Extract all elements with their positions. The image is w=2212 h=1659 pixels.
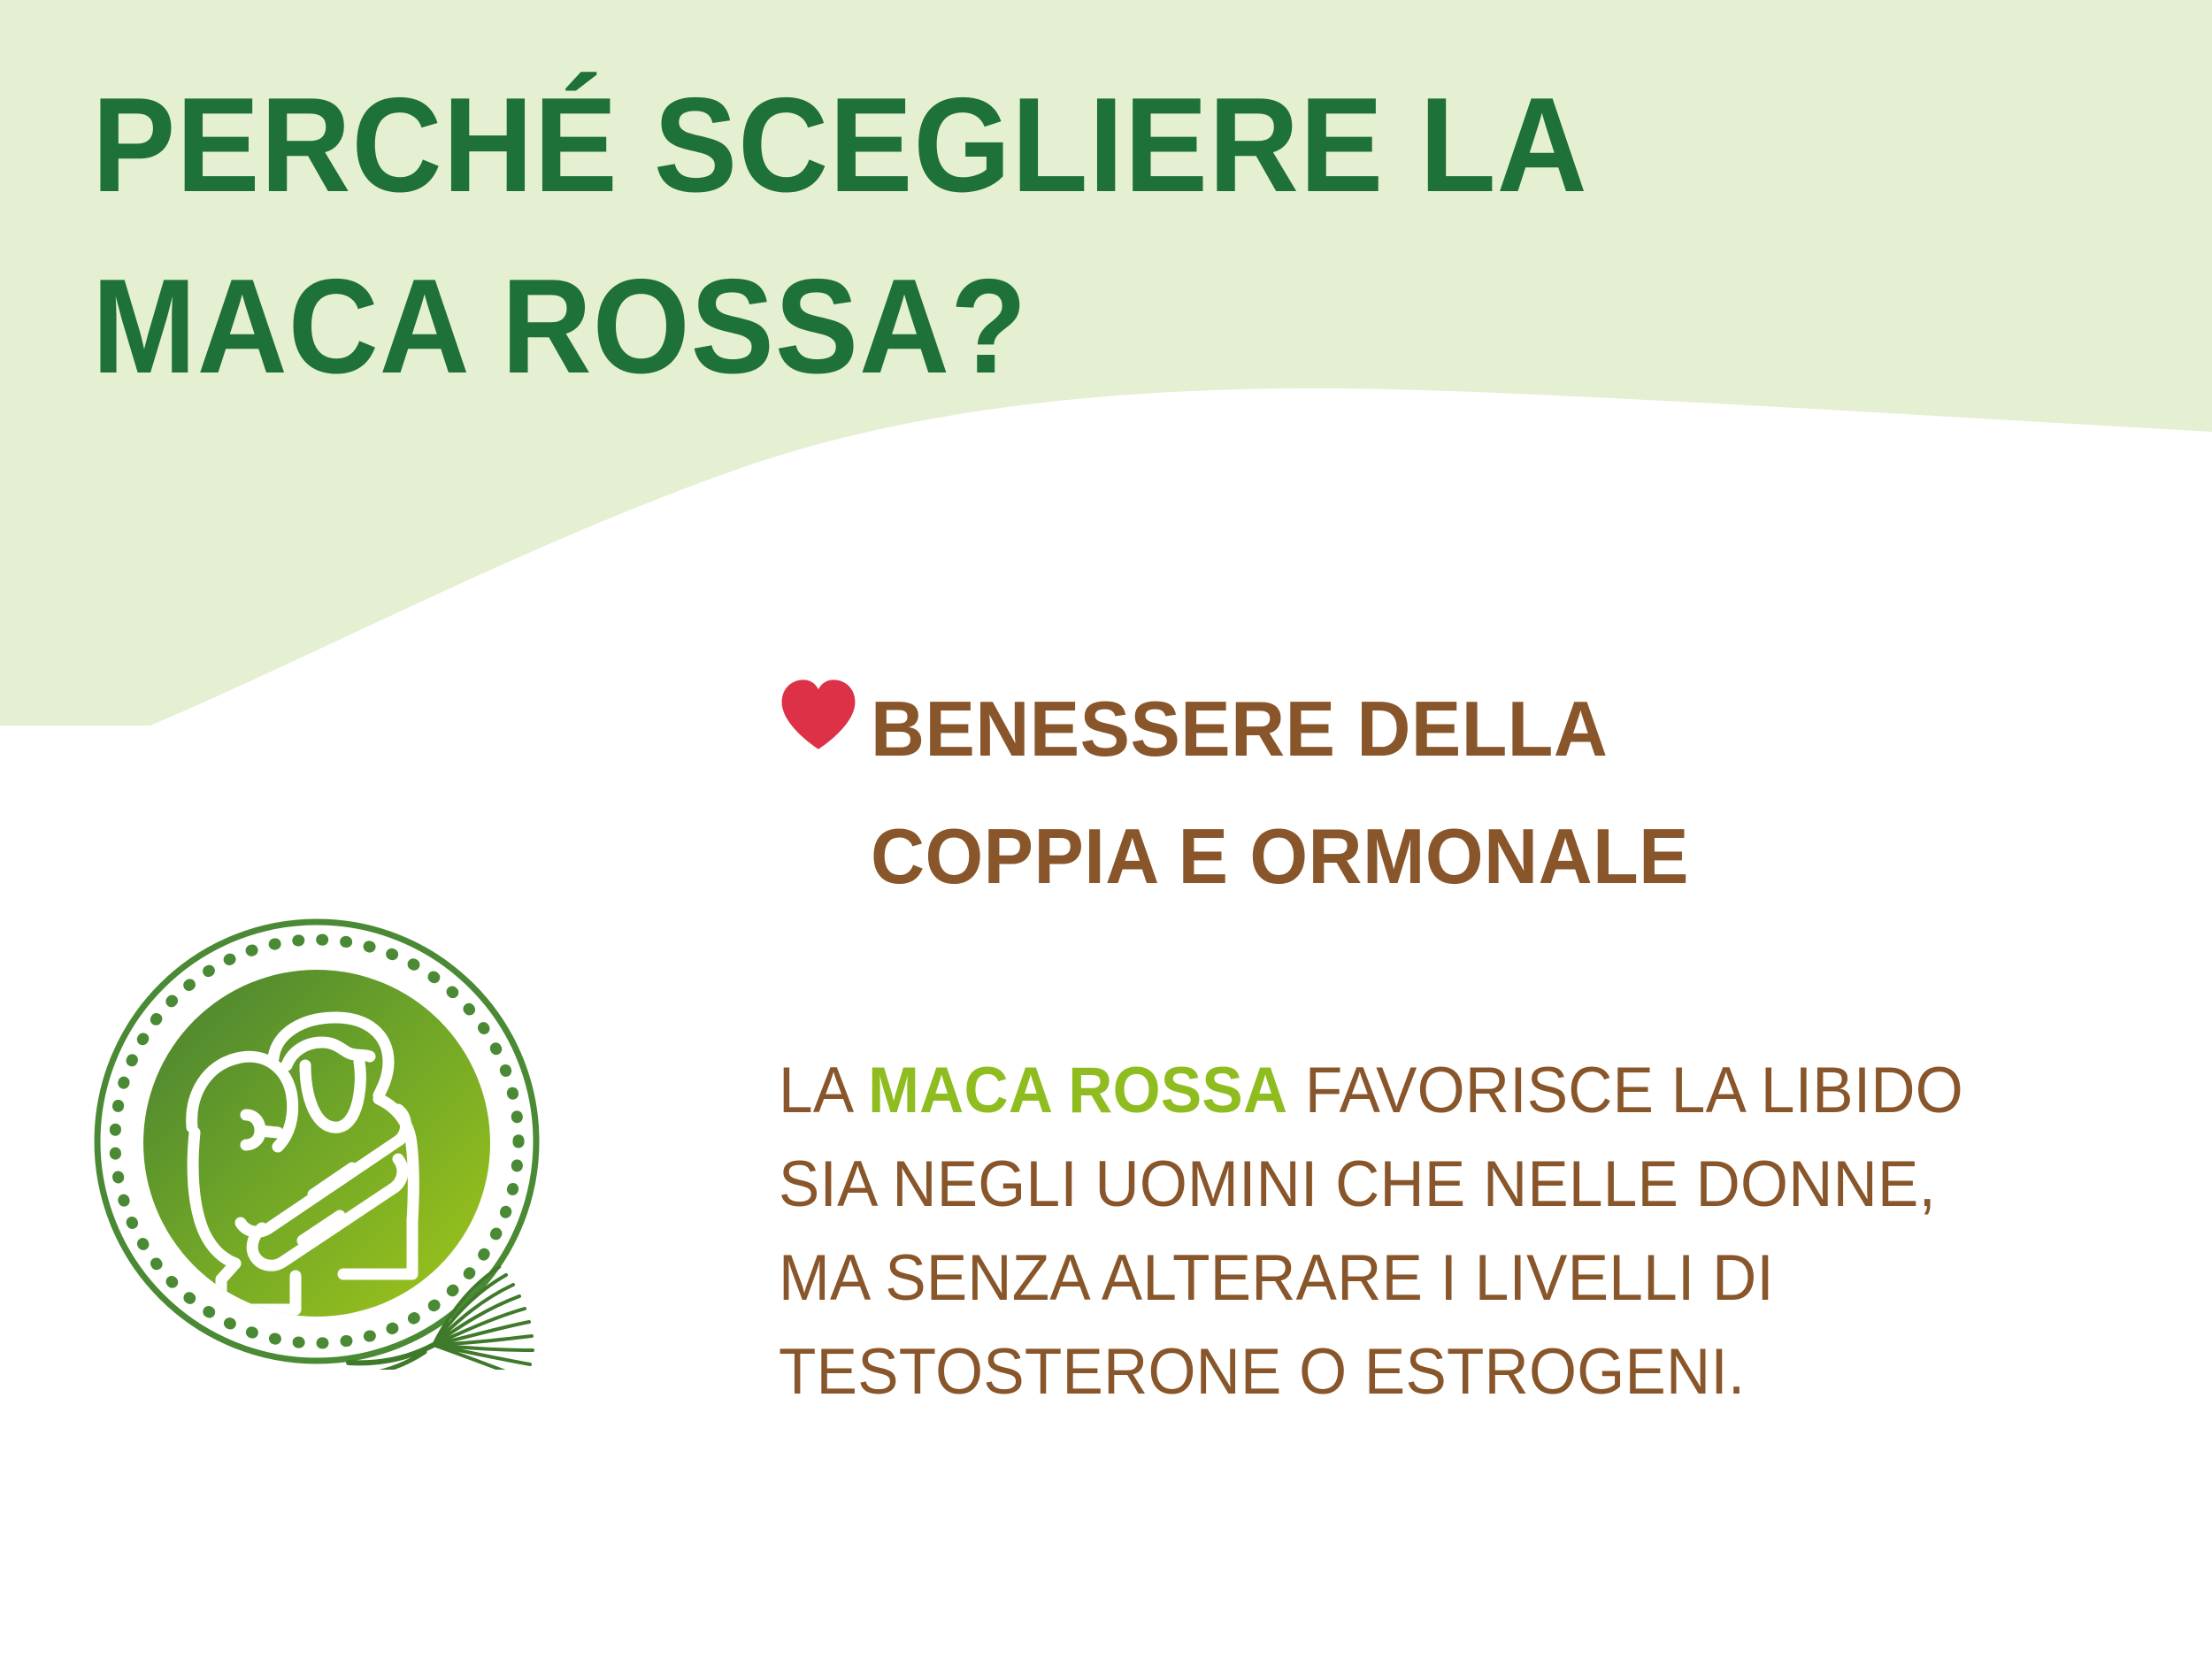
heart-icon bbox=[779, 665, 871, 752]
benefit-heading-line-1: BENESSERE DELLA bbox=[871, 665, 2073, 793]
benefit-badge bbox=[87, 910, 547, 1370]
benefit-content: BENESSERE DELLA COPPIA E ORMONALE LA MAC… bbox=[779, 665, 2124, 1419]
benefit-body-line: SIA NEGLI UOMINI CHE NELLE DONNE, bbox=[779, 1138, 2056, 1232]
benefit-body-line-1-post: FAVORISCE LA LIBIDO bbox=[1287, 1055, 1963, 1126]
slide-canvas: PERCHÉ SCEGLIERE LA MACA ROSSA? bbox=[0, 0, 2212, 1659]
benefit-heading-row: BENESSERE DELLA COPPIA E ORMONALE bbox=[779, 665, 2124, 920]
benefit-heading-line-2: COPPIA E ORMONALE bbox=[871, 793, 2073, 920]
benefit-heading: BENESSERE DELLA COPPIA E ORMONALE bbox=[871, 665, 2124, 920]
benefit-body-line-1-pre: LA bbox=[779, 1055, 868, 1126]
page-title: PERCHÉ SCEGLIERE LA MACA ROSSA? bbox=[92, 55, 1906, 418]
benefit-body-copy: LA MACA ROSSA FAVORISCE LA LIBIDO SIA NE… bbox=[779, 1044, 2124, 1419]
page-title-line-1: PERCHÉ SCEGLIERE LA bbox=[92, 55, 1779, 236]
benefit-body-line-4-pre: TESTOSTERONE O ESTROGENI. bbox=[779, 1336, 1745, 1408]
benefit-body-line: MA SENZA ALTERARE I LIVELLI DI bbox=[779, 1232, 2056, 1325]
benefit-body-line: LA MACA ROSSA FAVORISCE LA LIBIDO bbox=[779, 1044, 2056, 1138]
benefit-body-line-1-highlight: MACA ROSSA bbox=[868, 1055, 1287, 1126]
benefit-body-line: TESTOSTERONE O ESTROGENI. bbox=[779, 1325, 2056, 1419]
page-title-line-2: MACA ROSSA? bbox=[92, 236, 1779, 418]
benefit-body-line-2-pre: SIA NEGLI UOMINI CHE NELLE DONNE, bbox=[779, 1148, 1936, 1220]
benefit-body-line-3-pre: MA SENZA ALTERARE I LIVELLI DI bbox=[779, 1242, 1774, 1314]
